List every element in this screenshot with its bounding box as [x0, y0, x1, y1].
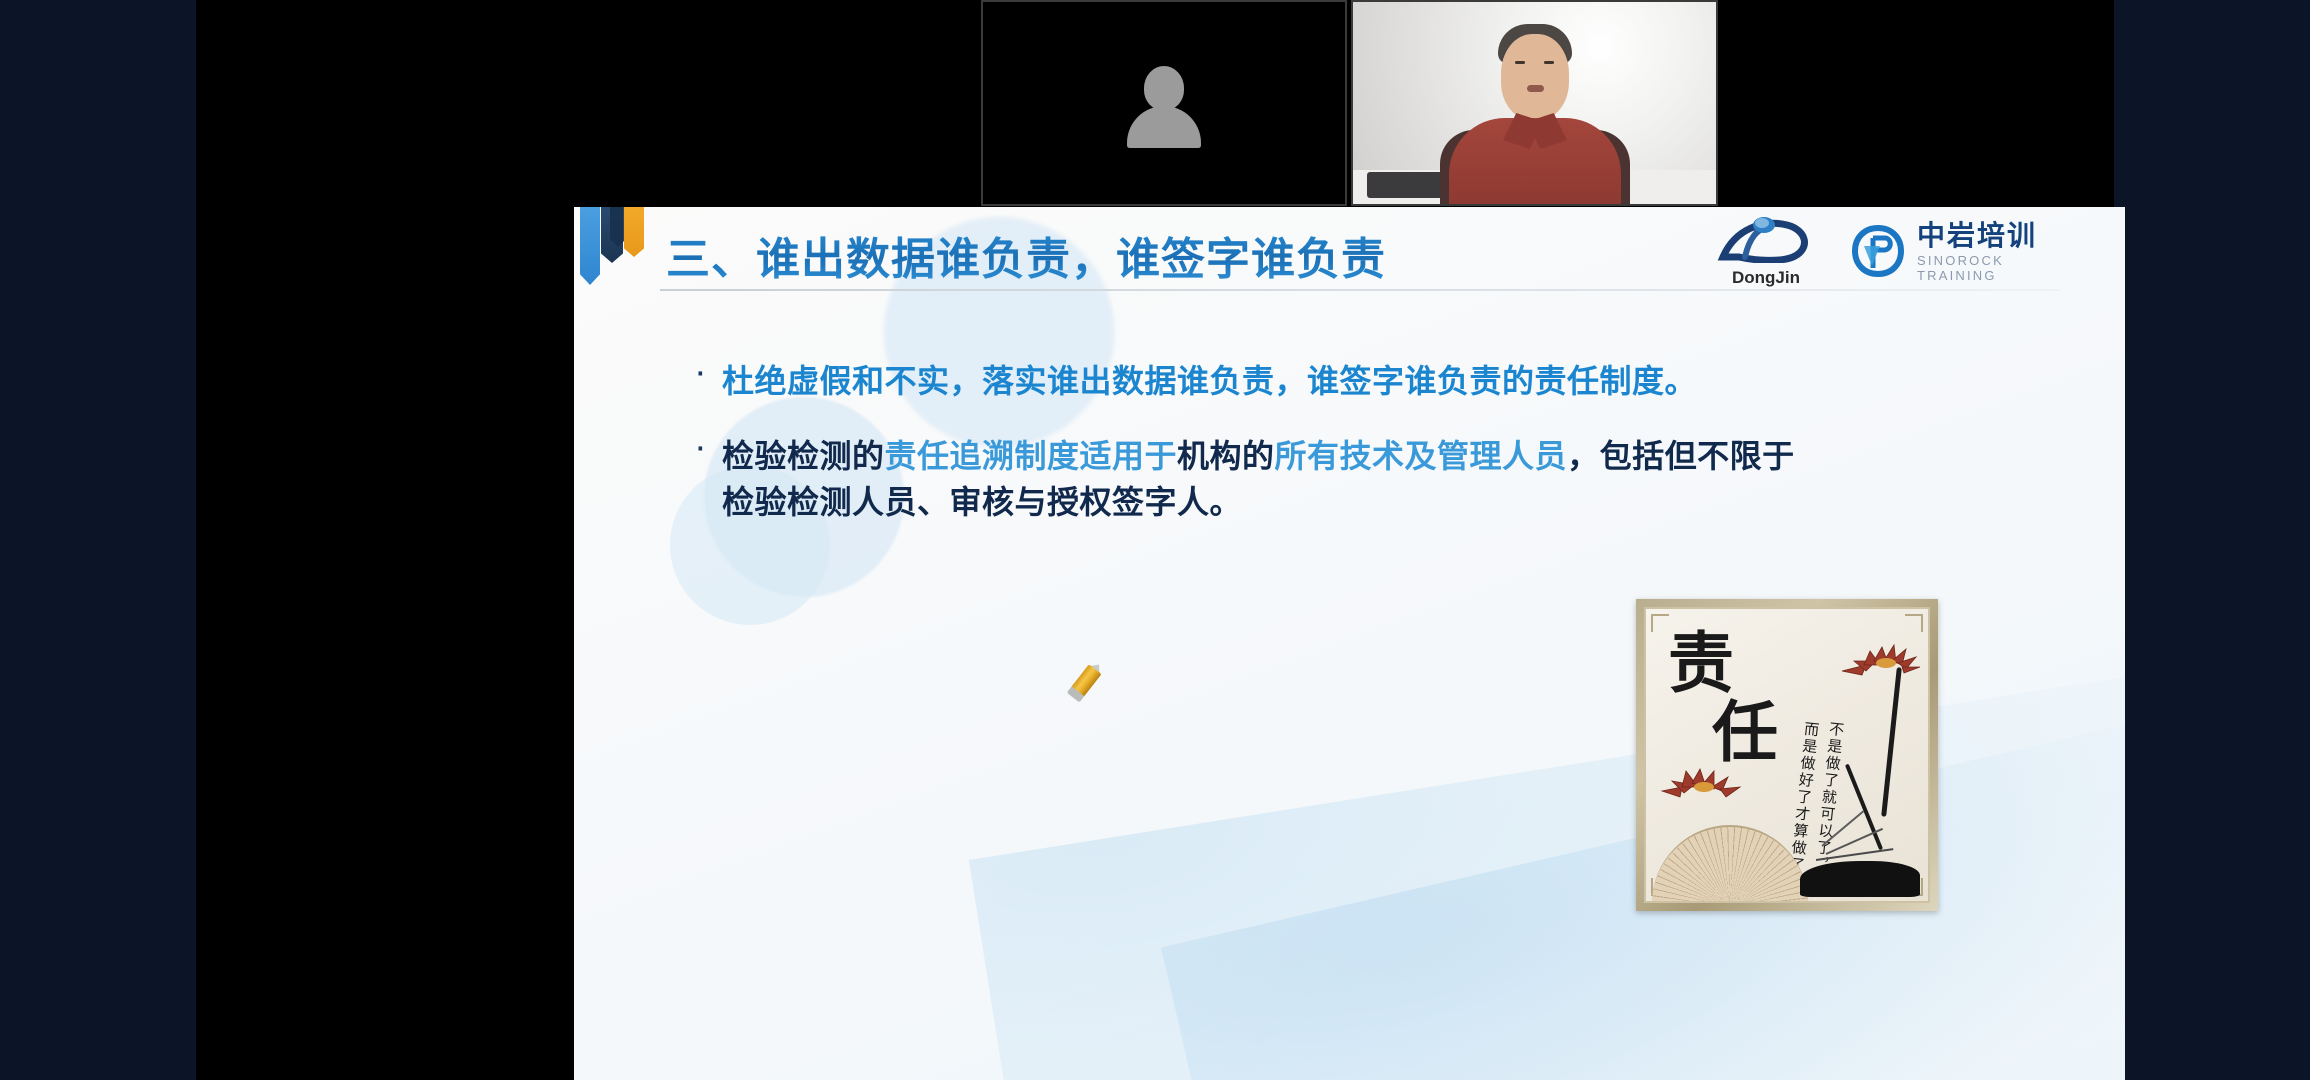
artwork-corner: [1905, 614, 1923, 632]
video-tile-presenter[interactable]: [1351, 0, 1718, 206]
slide-title: 三、谁出数据谁负责，谁签字谁负责: [666, 223, 1386, 287]
bullet-line: 检验检测人员、审核与授权签字人。: [722, 480, 2024, 525]
artwork-fan: [1652, 825, 1808, 903]
presentation-stage: 三、谁出数据谁负责，谁签字谁负责 DongJin: [196, 0, 2114, 1080]
calligraphy-char: 任: [1712, 700, 1776, 765]
artwork-corner: [1651, 614, 1669, 632]
avatar-placeholder-icon: [1123, 66, 1205, 148]
bullet-line: 杜绝虚假和不实，落实谁出数据谁负责，谁签字谁负责的责任制度。: [722, 359, 2024, 404]
logo-sinorock: 中岩培训 SINOROCK TRAINING: [1849, 219, 2089, 285]
logo-sinorock-en: SINOROCK TRAINING: [1917, 253, 2089, 283]
bullet-item: 杜绝虚假和不实，落实谁出数据谁负责，谁签字谁负责的责任制度。: [694, 359, 2024, 404]
bullet-item: 检验检测的责任追溯制度适用于机构的所有技术及管理人员，包括但不限于 检验检测人员…: [694, 434, 2024, 525]
pencil-icon[interactable]: [1064, 657, 1109, 705]
screen-root: 三、谁出数据谁负责，谁签字谁负责 DongJin: [0, 0, 2310, 1080]
text-run: 检验检测的: [722, 438, 885, 474]
calligraphy-char: 责: [1668, 624, 1732, 702]
app-background-right: [2114, 0, 2310, 1080]
slide-body: 杜绝虚假和不实，落实谁出数据谁负责，谁签字谁负责的责任制度。 检验检测的责任追溯…: [694, 359, 2024, 555]
artwork-lotus-flower: [1836, 641, 1922, 681]
text-run: 检验检测人员、审核与授权签字人。: [722, 484, 1242, 520]
webcam-person-mouth: [1527, 85, 1544, 92]
text-run: 杜绝虚假和不实，落实谁出数据谁负责，谁签字谁负责的责任制度。: [722, 363, 1697, 399]
artwork-calligraphy: 责 任: [1668, 631, 1776, 764]
responsibility-artwork: 责 任 不是做了就可以了， 而是做好了才算做了: [1636, 599, 1938, 911]
text-run: 机构的: [1177, 438, 1275, 474]
logo-group: DongJin 中岩培训 SINOROCK TRAINING: [1707, 215, 2089, 289]
video-tile-participant[interactable]: [981, 0, 1347, 206]
video-strip: [981, 0, 1718, 206]
artwork-stem: [1881, 667, 1902, 817]
bullet-line: 检验检测的责任追溯制度适用于机构的所有技术及管理人员，包括但不限于: [722, 434, 2024, 479]
webcam-person-face: [1501, 34, 1569, 120]
logo-dongjin-text: DongJin: [1711, 268, 1821, 288]
text-run: ，包括但不限于: [1567, 438, 1795, 474]
dongjin-mark-icon: [1715, 217, 1815, 263]
webcam-person-eye-left: [1515, 61, 1525, 64]
ribbon-bookmark-icon: [580, 207, 652, 287]
sinorock-mark-icon: [1849, 224, 1907, 280]
title-underline: [660, 289, 2060, 291]
text-run: 所有技术及管理人员: [1275, 438, 1568, 474]
logo-dongjin: DongJin: [1707, 215, 1825, 289]
app-background-left: [0, 0, 196, 1080]
artwork-rock: [1800, 861, 1920, 897]
text-run: 责任追溯制度适用于: [885, 438, 1178, 474]
webcam-person-eye-right: [1544, 61, 1554, 64]
slide-header: 三、谁出数据谁负责，谁签字谁负责 DongJin: [574, 207, 2125, 312]
slide-canvas: 三、谁出数据谁负责，谁签字谁负责 DongJin: [574, 207, 2125, 1080]
logo-sinorock-cn: 中岩培训: [1917, 221, 2089, 250]
artwork-lotus-flower: [1658, 765, 1744, 805]
